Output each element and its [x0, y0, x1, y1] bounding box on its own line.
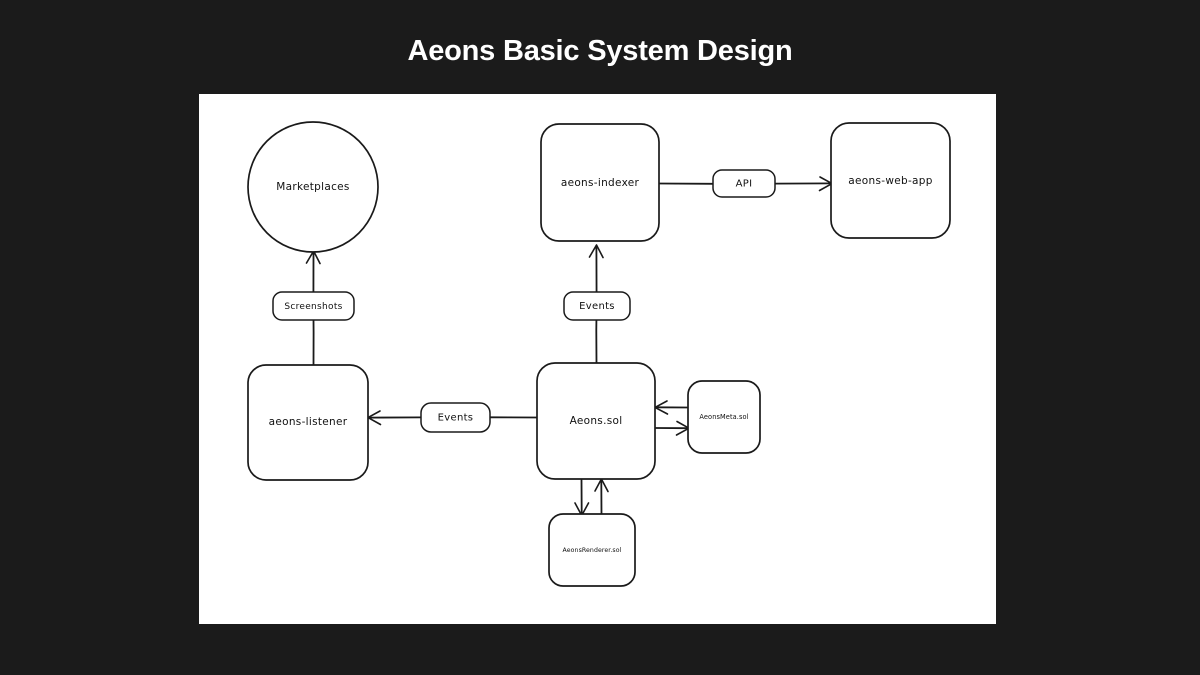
- node-aeons-listener[interactable]: aeons-listener: [248, 365, 368, 480]
- node-aeons-web-app[interactable]: aeons-web-app: [831, 123, 950, 238]
- aeons-sol-label: Aeons.sol: [570, 415, 623, 427]
- aeons-listener-label: aeons-listener: [269, 416, 348, 428]
- aeons-indexer-label: aeons-indexer: [561, 177, 640, 189]
- events-up-chip-label: Events: [579, 301, 615, 312]
- node-aeons-indexer[interactable]: aeons-indexer: [541, 124, 659, 241]
- node-aeons-meta-sol[interactable]: AeonsMeta.sol: [688, 381, 760, 453]
- aeons-renderer-sol-label: AeonsRenderer.sol: [563, 547, 622, 554]
- node-marketplaces[interactable]: Marketplaces: [248, 122, 378, 252]
- system-design-diagram: Marketplaces aeons-indexer aeons-web-app…: [199, 94, 996, 624]
- slide-root: Aeons Basic System Design: [0, 0, 1200, 675]
- aeons-meta-sol-label: AeonsMeta.sol: [699, 413, 748, 421]
- aeons-web-app-label: aeons-web-app: [848, 175, 932, 187]
- node-aeons-sol[interactable]: Aeons.sol: [537, 363, 655, 479]
- edge-aeonssol-aeonsmeta: [655, 401, 689, 435]
- diagram-canvas: Marketplaces aeons-indexer aeons-web-app…: [199, 94, 996, 624]
- node-aeons-renderer-sol[interactable]: AeonsRenderer.sol: [549, 514, 635, 586]
- edge-label-events-left[interactable]: Events: [421, 403, 490, 432]
- marketplaces-label: Marketplaces: [276, 181, 349, 193]
- edge-label-api[interactable]: API: [713, 170, 775, 197]
- edge-label-events-up[interactable]: Events: [564, 292, 630, 320]
- screenshots-chip-label: Screenshots: [284, 302, 342, 312]
- api-chip-label: API: [736, 179, 753, 190]
- edge-aeonssol-aeonsrenderer: [575, 479, 608, 516]
- page-title: Aeons Basic System Design: [0, 36, 1200, 68]
- events-left-chip-label: Events: [438, 413, 474, 424]
- edge-label-screenshots[interactable]: Screenshots: [273, 292, 354, 320]
